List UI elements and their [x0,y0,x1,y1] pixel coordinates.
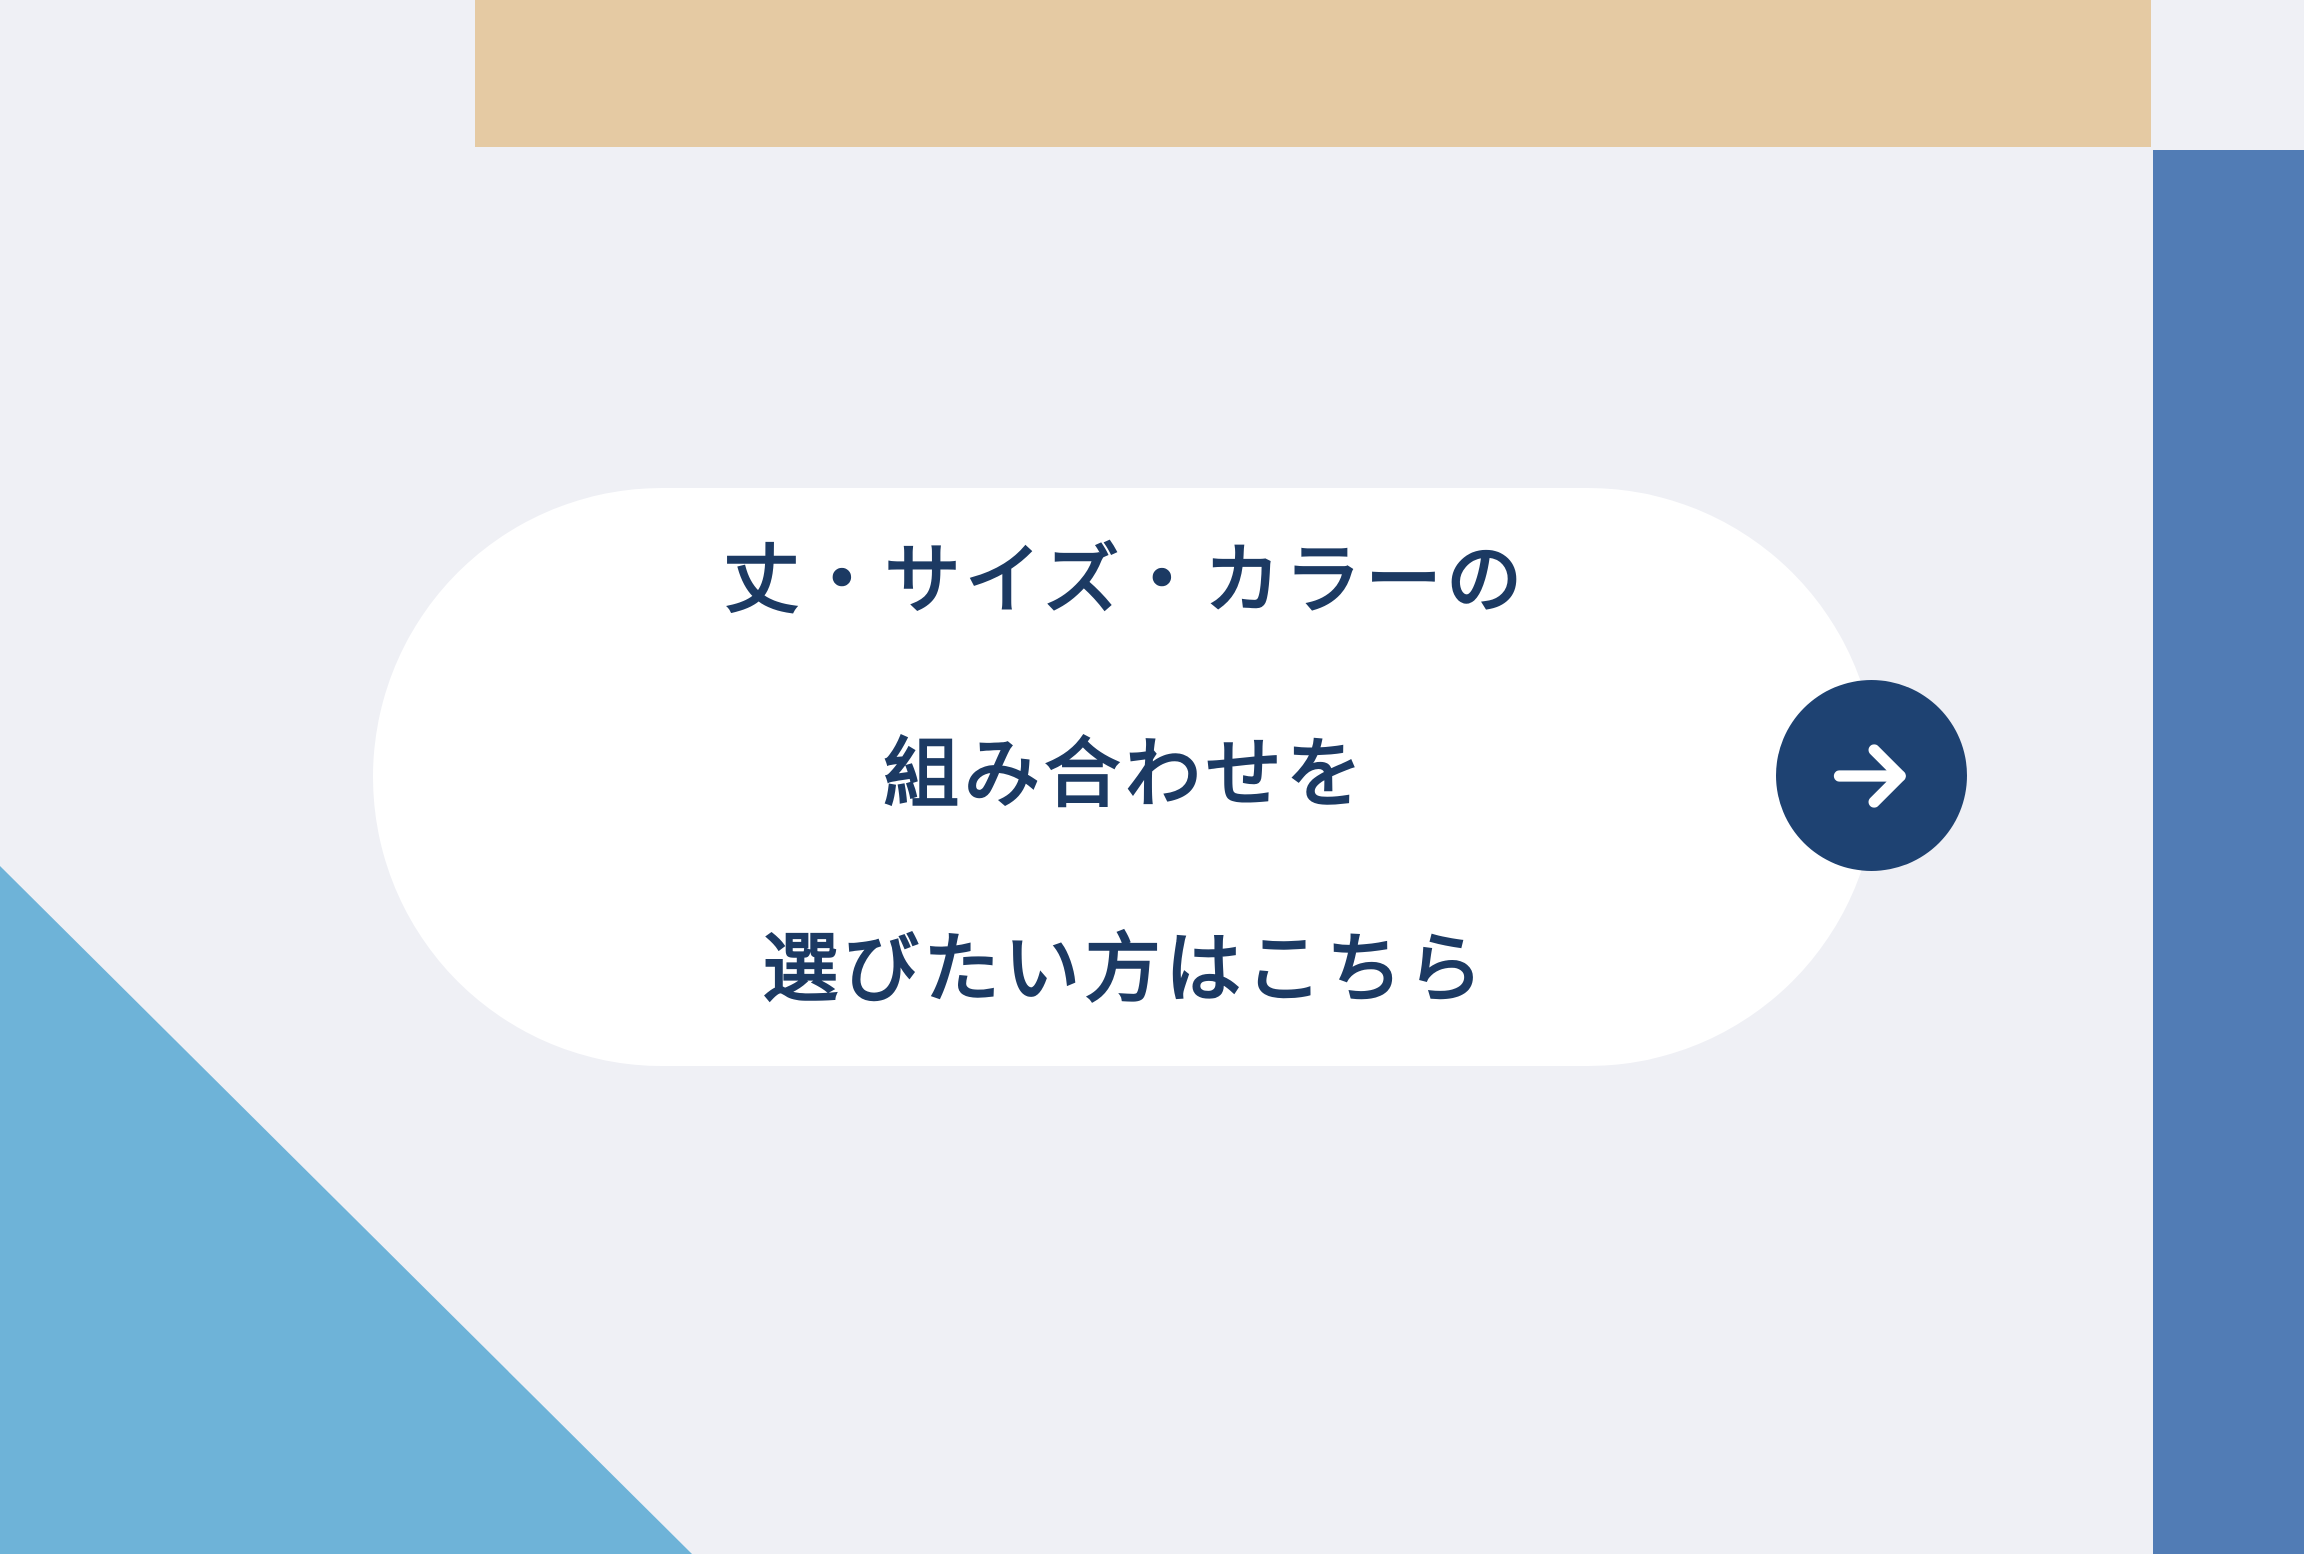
size-color-selector-cta[interactable]: 丈・サイズ・カラーの 組み合わせを 選びたい方はこちら [373,488,1877,1066]
page-canvas: 丈・サイズ・カラーの 組み合わせを 選びたい方はこちら [0,0,2304,1554]
cta-text-block: 丈・サイズ・カラーの 組み合わせを 選びたい方はこちら [723,435,1526,1120]
right-blue-bar [2153,150,2304,1554]
cta-text-line-3: 選びたい方はこちら [723,921,1526,1018]
arrow-right-icon [1820,724,1924,828]
cta-text-line-2: 組み合わせを [723,726,1526,823]
cta-text-line-1: 丈・サイズ・カラーの [723,532,1526,629]
arrow-right-button[interactable] [1776,680,1967,871]
beige-band [475,0,2151,147]
